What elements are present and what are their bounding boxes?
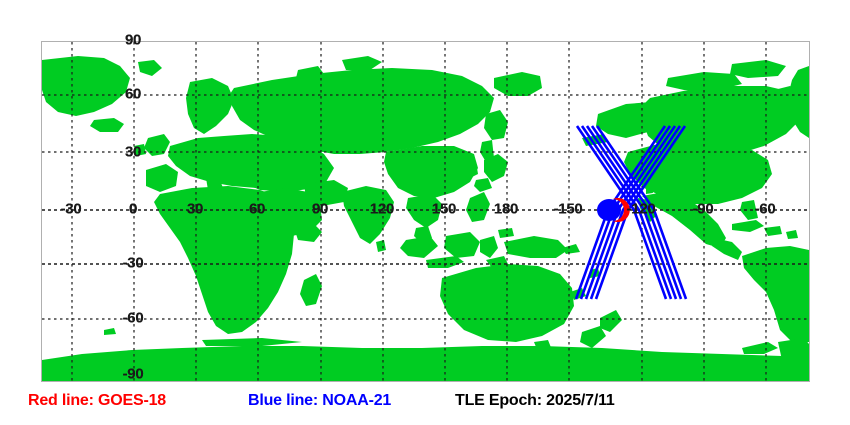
y-tick--60: -60	[123, 310, 144, 327]
goes18-marker-blue-halo	[597, 199, 621, 221]
y-tick-30: 30	[125, 144, 141, 161]
x-tick-30: 30	[187, 201, 203, 218]
x-tick--90: -90	[693, 201, 714, 218]
x-tick-180: 180	[494, 201, 518, 218]
legend-red-line-goes18: Red line: GOES-18	[28, 392, 166, 410]
x-tick-150: 150	[432, 201, 456, 218]
x-tick-90: 90	[312, 201, 328, 218]
legend-blue-line-noaa21: Blue line: NOAA-21	[248, 392, 391, 410]
y-tick-90: 90	[125, 32, 141, 49]
x-tick--150: -150	[554, 201, 583, 218]
x-tick--30: -30	[61, 201, 82, 218]
legend-tle-epoch: TLE Epoch: 2025/7/11	[455, 392, 615, 410]
x-tick-120: 120	[370, 201, 394, 218]
x-tick-60: 60	[249, 201, 265, 218]
legend-footer: Red line: GOES-18 Blue line: NOAA-21 TLE…	[0, 392, 850, 425]
ground-track-map-figure: -30 0 30 60 90 120 150 180 -150 -120 -90…	[0, 0, 850, 425]
goes18-subsatellite-marker	[597, 198, 630, 222]
y-tick--90: -90	[123, 366, 144, 383]
y-tick--30: -30	[123, 255, 144, 272]
x-tick--120: -120	[627, 201, 656, 218]
y-tick-0: 0	[129, 201, 137, 218]
x-tick--60: -60	[755, 201, 776, 218]
y-tick-60: 60	[125, 86, 141, 103]
